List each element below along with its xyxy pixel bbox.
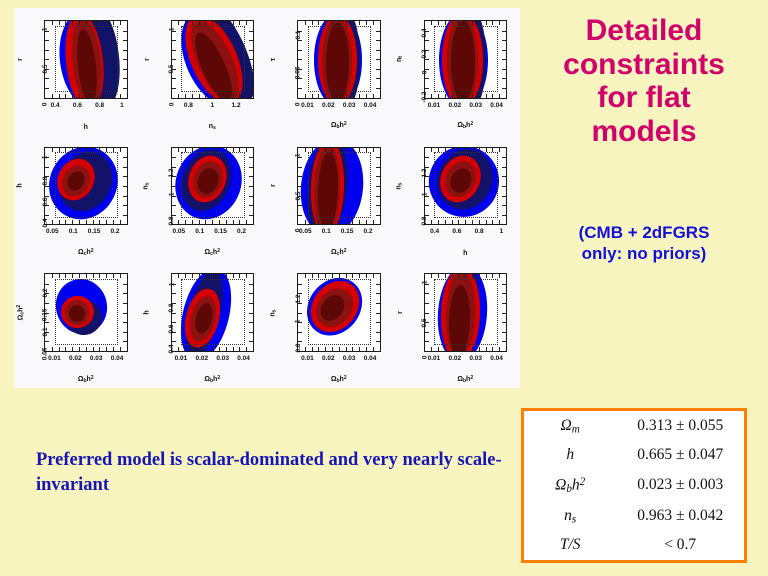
x-tick-labels: 0.010.020.030.04 — [297, 102, 381, 113]
y-tick-label: 0.05 — [42, 348, 49, 361]
y-tick-label: 1 — [422, 281, 429, 285]
y-axis-title: τ — [268, 20, 279, 99]
y-tick-label: 0.8 — [169, 303, 176, 312]
y-axis-title: h — [142, 273, 153, 352]
x-tick-label: 0.04 — [364, 102, 377, 109]
x-axis-title: Ωbh2 — [297, 375, 381, 384]
y-tick-label: 1 — [42, 155, 49, 159]
contour-panel-r1c1: 0.40.60.8100.51hr — [14, 8, 141, 135]
parameter-symbol: h — [524, 441, 616, 470]
x-tick-label: 0.15 — [88, 228, 101, 235]
y-tick-label: 0 — [295, 229, 302, 233]
contour-panel-r3c1: 0.010.020.030.040.050.10.150.2Ωbh2Ωch2 — [14, 261, 141, 388]
contour-panel-r1c4: 0.010.020.030.04-0.200.20.4Ωbh2nt — [394, 8, 521, 135]
y-tick-label: 1.2 — [422, 168, 429, 177]
y-tick-label: 0.2 — [42, 289, 49, 298]
x-tick-label: 0.01 — [301, 102, 314, 109]
x-axis-title: Ωbh2 — [171, 375, 255, 384]
parameter-symbol: T/S — [524, 531, 616, 560]
x-tick-labels: 0.050.10.150.2 — [44, 228, 128, 239]
title-line-3: for flat — [524, 81, 764, 115]
results-row: Ωm0.313 ± 0.055 — [524, 411, 744, 441]
x-tick-label: 1 — [500, 228, 504, 235]
x-tick-labels: 0.811.2 — [171, 102, 255, 113]
y-tick-labels: 0.811.2 — [155, 147, 169, 226]
axes-box — [171, 20, 255, 99]
y-axis-title: nt — [395, 20, 406, 99]
y-tick-label: 0.4 — [169, 345, 176, 354]
y-tick-label: 0.5 — [42, 65, 49, 74]
contour-panel-r2c1: 0.050.10.150.20.40.60.81Ωch2h — [14, 135, 141, 262]
contour-panel-r2c2: 0.050.10.150.20.811.2Ωch2ns — [141, 135, 268, 262]
x-tick-label: 0.01 — [301, 355, 314, 362]
x-tick-label: 0.03 — [216, 355, 229, 362]
y-tick-label: -0.2 — [422, 92, 429, 103]
x-tick-label: 0.02 — [69, 355, 82, 362]
x-tick-label: 0.2 — [237, 228, 246, 235]
axes-box — [424, 20, 508, 99]
contour-level-5 — [326, 23, 349, 99]
conclusion-text: Preferred model is scalar-dominated and … — [36, 448, 506, 498]
results-row: h0.665 ± 0.047 — [524, 441, 744, 470]
x-tick-label: 0.03 — [90, 355, 103, 362]
x-tick-labels: 0.40.60.81 — [424, 228, 508, 239]
y-tick-label: 0.8 — [422, 217, 429, 226]
axes-box — [171, 273, 255, 352]
x-axis-title: ns — [171, 123, 255, 131]
contour-panel-r3c4: 0.010.020.030.0400.51Ωbh2r — [394, 261, 521, 388]
y-tick-labels: 00.51 — [155, 20, 169, 99]
y-axis-title: r — [15, 20, 26, 99]
x-tick-label: 0.15 — [214, 228, 227, 235]
x-tick-labels: 0.010.020.030.04 — [297, 355, 381, 366]
y-tick-label: 0.2 — [422, 50, 429, 59]
x-tick-labels: 0.010.020.030.04 — [424, 355, 508, 366]
x-tick-label: 1 — [120, 102, 124, 109]
y-tick-label: 0.5 — [295, 191, 302, 200]
y-axis-title: Ωch2 — [15, 273, 26, 352]
x-tick-label: 0.04 — [490, 355, 503, 362]
y-tick-label: 1.2 — [295, 295, 302, 304]
x-tick-labels: 0.010.020.030.04 — [171, 355, 255, 366]
title-line-2: constraints — [524, 48, 764, 82]
y-tick-labels: 0.40.60.81 — [155, 273, 169, 352]
x-tick-label: 0.8 — [95, 102, 104, 109]
axes-box — [44, 273, 128, 352]
y-tick-label: 0.6 — [169, 324, 176, 333]
axes-box — [171, 147, 255, 226]
x-tick-label: 0.04 — [490, 102, 503, 109]
y-axis-title: h — [15, 147, 26, 226]
x-tick-label: 0.03 — [343, 102, 356, 109]
results-row: Ωbh20.023 ± 0.003 — [524, 470, 744, 501]
y-tick-labels: 00.51 — [28, 20, 42, 99]
x-tick-label: 0.01 — [175, 355, 188, 362]
y-axis-title: ns — [268, 273, 279, 352]
parameter-value: 0.313 ± 0.055 — [616, 411, 744, 441]
subtitle-line-2: only: no priors) — [524, 243, 764, 264]
x-tick-label: 0.03 — [469, 102, 482, 109]
parameter-symbol: Ωbh2 — [524, 470, 616, 501]
x-tick-label: 0.15 — [341, 228, 354, 235]
results-row: T/S< 0.7 — [524, 531, 744, 560]
y-tick-label: 0.6 — [42, 197, 49, 206]
y-tick-label: 0.8 — [42, 176, 49, 185]
axes-box — [44, 20, 128, 99]
x-tick-labels: 0.010.020.030.04 — [44, 355, 128, 366]
y-axis-title: ns — [142, 147, 153, 226]
x-axis-title: Ωbh2 — [297, 121, 381, 130]
axes-box — [424, 147, 508, 226]
y-tick-labels: -0.200.20.4 — [408, 20, 422, 99]
y-tick-label: 0.5 — [169, 65, 176, 74]
x-tick-label: 0.03 — [469, 355, 482, 362]
parameter-symbol: Ωm — [524, 411, 616, 441]
contour-panel-r2c3: 0.050.10.150.200.51Ωch2r — [267, 135, 394, 262]
x-tick-labels: 0.40.60.81 — [44, 102, 128, 113]
results-row: ns0.963 ± 0.042 — [524, 501, 744, 531]
x-axis-title: Ωbh2 — [424, 375, 508, 384]
x-tick-labels: 0.050.10.150.2 — [171, 228, 255, 239]
parameter-value: 0.963 ± 0.042 — [616, 501, 744, 531]
results-table-inner: Ωm0.313 ± 0.055h0.665 ± 0.047Ωbh20.023 ±… — [524, 411, 744, 560]
x-tick-label: 0.4 — [51, 102, 60, 109]
x-tick-label: 0.4 — [430, 228, 439, 235]
y-tick-label: 0.4 — [42, 218, 49, 227]
contour-panel-r1c2: 0.811.200.51nsr — [141, 8, 268, 135]
parameter-value: < 0.7 — [616, 531, 744, 560]
x-tick-label: 0.1 — [69, 228, 78, 235]
contour-plot-figure: 0.40.60.8100.51hr0.811.200.51nsr0.010.02… — [14, 8, 520, 388]
y-tick-label: 0.1 — [42, 328, 49, 337]
y-tick-labels: 0.050.10.150.2 — [28, 273, 42, 352]
y-tick-label: 0.05 — [295, 66, 302, 79]
x-tick-label: 0.04 — [364, 355, 377, 362]
y-tick-labels: 00.050.1 — [281, 20, 295, 99]
slide-subtitle: (CMB + 2dFGRS only: no priors) — [524, 222, 764, 265]
y-tick-label: 0.5 — [422, 318, 429, 327]
x-tick-label: 0.6 — [452, 228, 461, 235]
y-tick-label: 0.1 — [295, 31, 302, 40]
x-tick-label: 0.1 — [322, 228, 331, 235]
y-tick-label: 1 — [422, 193, 429, 197]
x-axis-title: Ωbh2 — [424, 121, 508, 130]
contour-panel-r1c3: 0.010.020.030.0400.050.1Ωbh2τ — [267, 8, 394, 135]
y-tick-label: 0 — [295, 102, 302, 106]
y-axis-title: ns — [395, 147, 406, 226]
y-tick-label: 1 — [169, 27, 176, 31]
y-axis-title: r — [268, 147, 279, 226]
x-tick-label: 0.8 — [475, 228, 484, 235]
contour-panel-r3c2: 0.010.020.030.040.40.60.81Ωbh2h — [141, 261, 268, 388]
x-tick-label: 1 — [210, 102, 214, 109]
x-tick-label: 0.05 — [46, 228, 59, 235]
y-tick-labels: 0.811.2 — [281, 273, 295, 352]
y-tick-labels: 00.51 — [281, 147, 295, 226]
y-tick-label: 0 — [169, 102, 176, 106]
plot-grid: 0.40.60.8100.51hr0.811.200.51nsr0.010.02… — [14, 8, 520, 388]
x-tick-label: 0.2 — [110, 228, 119, 235]
y-axis-title: r — [142, 20, 153, 99]
x-axis-title: Ωbh2 — [44, 375, 128, 384]
axes-box — [297, 147, 381, 226]
results-table-body: Ωm0.313 ± 0.055h0.665 ± 0.047Ωbh20.023 ±… — [524, 411, 744, 560]
x-tick-label: 0.02 — [448, 355, 461, 362]
x-tick-label: 0.02 — [195, 355, 208, 362]
y-axis-title: r — [395, 273, 406, 352]
x-tick-label: 0.01 — [48, 355, 61, 362]
title-line-4: models — [524, 115, 764, 149]
y-tick-label: 0 — [42, 102, 49, 106]
y-tick-label: 0.8 — [169, 217, 176, 226]
y-tick-label: 0.8 — [295, 343, 302, 352]
x-axis-title: Ωch2 — [171, 248, 255, 257]
y-tick-label: 1 — [42, 27, 49, 31]
x-tick-label: 0.03 — [343, 355, 356, 362]
contour-panel-r3c3: 0.010.020.030.040.811.2Ωbh2ns — [267, 261, 394, 388]
x-tick-label: 0.02 — [448, 102, 461, 109]
parameter-results-table: Ωm0.313 ± 0.055h0.665 ± 0.047Ωbh20.023 ±… — [521, 408, 747, 563]
x-tick-label: 0.2 — [363, 228, 372, 235]
x-tick-label: 0.01 — [428, 102, 441, 109]
x-axis-title: Ωch2 — [297, 248, 381, 257]
x-tick-label: 0.02 — [322, 355, 335, 362]
y-tick-labels: 00.51 — [408, 273, 422, 352]
parameter-symbol: ns — [524, 501, 616, 531]
contour-panel-r2c4: 0.40.60.810.811.2hns — [394, 135, 521, 262]
y-tick-label: 0 — [422, 355, 429, 359]
x-tick-label: 0.6 — [73, 102, 82, 109]
y-tick-labels: 0.40.60.81 — [28, 147, 42, 226]
x-tick-label: 0.05 — [173, 228, 186, 235]
x-axis-title: h — [424, 250, 508, 257]
title-line-1: Detailed — [524, 14, 764, 48]
x-tick-label: 0.8 — [184, 102, 193, 109]
subtitle-line-1: (CMB + 2dFGRS — [524, 222, 764, 243]
y-tick-label: 1 — [169, 282, 176, 286]
x-tick-label: 0.04 — [237, 355, 250, 362]
y-tick-label: 0.4 — [422, 29, 429, 38]
axes-box — [424, 273, 508, 352]
x-tick-labels: 0.050.10.150.2 — [297, 228, 381, 239]
x-tick-label: 0.04 — [111, 355, 124, 362]
y-tick-labels: 0.811.2 — [408, 147, 422, 226]
y-tick-label: 1 — [295, 154, 302, 158]
x-tick-labels: 0.010.020.030.04 — [424, 102, 508, 113]
axes-box — [297, 20, 381, 99]
y-tick-label: 1.2 — [169, 168, 176, 177]
slide-title: Detailed constraints for flat models — [524, 14, 764, 148]
x-axis-title: h — [44, 124, 128, 131]
y-tick-label: 0.15 — [42, 308, 49, 321]
x-tick-label: 0.1 — [195, 228, 204, 235]
y-tick-label: 1 — [169, 193, 176, 197]
axes-box — [297, 273, 381, 352]
parameter-value: 0.665 ± 0.047 — [616, 441, 744, 470]
x-axis-title: Ωch2 — [44, 248, 128, 257]
x-tick-label: 1.2 — [232, 102, 241, 109]
x-tick-label: 0.02 — [322, 102, 335, 109]
axes-box — [44, 147, 128, 226]
parameter-value: 0.023 ± 0.003 — [616, 470, 744, 501]
y-tick-label: 1 — [295, 319, 302, 323]
x-tick-label: 0.01 — [428, 355, 441, 362]
y-tick-label: 0 — [422, 71, 429, 75]
